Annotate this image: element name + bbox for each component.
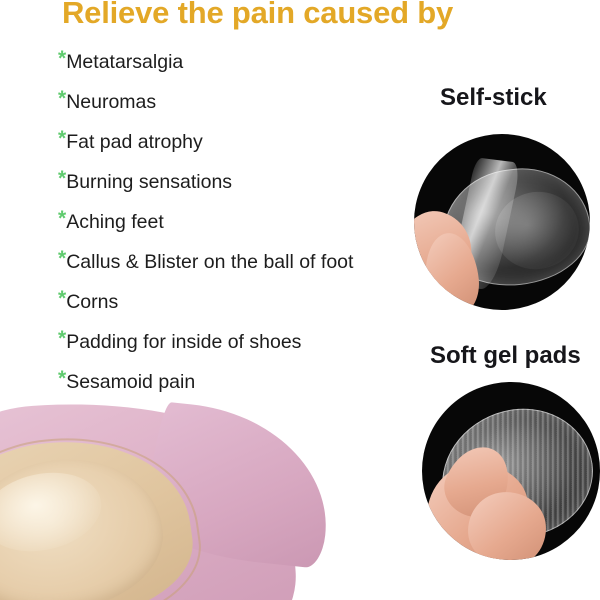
- asterisk-bullet-icon: *: [58, 322, 66, 356]
- list-item-label: Aching feet: [66, 202, 164, 242]
- asterisk-bullet-icon: *: [58, 242, 66, 276]
- list-item-label: Sesamoid pain: [66, 362, 195, 402]
- condition-list: *Metatarsalgia *Neuromas *Fat pad atroph…: [58, 42, 398, 402]
- list-item: *Sesamoid pain: [58, 362, 398, 402]
- list-item: *Neuromas: [58, 82, 398, 122]
- asterisk-bullet-icon: *: [58, 362, 66, 396]
- list-item: *Corns: [58, 282, 398, 322]
- list-item: *Padding for inside of shoes: [58, 322, 398, 362]
- feature-caption-soft-gel-pads: Soft gel pads: [430, 342, 581, 370]
- hand-holding-ridged-gel-pad-photo: [422, 382, 600, 560]
- list-item-label: Fat pad atrophy: [66, 122, 203, 162]
- list-item-label: Neuromas: [66, 82, 156, 122]
- asterisk-bullet-icon: *: [58, 282, 66, 316]
- list-item-label: Callus & Blister on the ball of foot: [66, 242, 353, 282]
- feature-caption-self-stick: Self-stick: [440, 84, 547, 112]
- pink-high-heel-shoe-with-gel-insert-photo: [0, 398, 330, 600]
- list-item-label: Burning sensations: [66, 162, 232, 202]
- list-item: *Burning sensations: [58, 162, 398, 202]
- asterisk-bullet-icon: *: [58, 122, 66, 156]
- product-infographic: Relieve the pain caused by *Metatarsalgi…: [0, 0, 600, 600]
- asterisk-bullet-icon: *: [58, 42, 66, 76]
- hand-holding-adhesive-gel-pad-photo: [414, 134, 590, 310]
- list-item: *Metatarsalgia: [58, 42, 398, 82]
- list-item: *Fat pad atrophy: [58, 122, 398, 162]
- list-item-label: Metatarsalgia: [66, 42, 183, 82]
- list-item-label: Corns: [66, 282, 118, 322]
- list-item: *Aching feet: [58, 202, 398, 242]
- asterisk-bullet-icon: *: [58, 82, 66, 116]
- asterisk-bullet-icon: *: [58, 202, 66, 236]
- asterisk-bullet-icon: *: [58, 162, 66, 196]
- page-title: Relieve the pain caused by: [62, 0, 453, 33]
- list-item: *Callus & Blister on the ball of foot: [58, 242, 398, 282]
- list-item-label: Padding for inside of shoes: [66, 322, 301, 362]
